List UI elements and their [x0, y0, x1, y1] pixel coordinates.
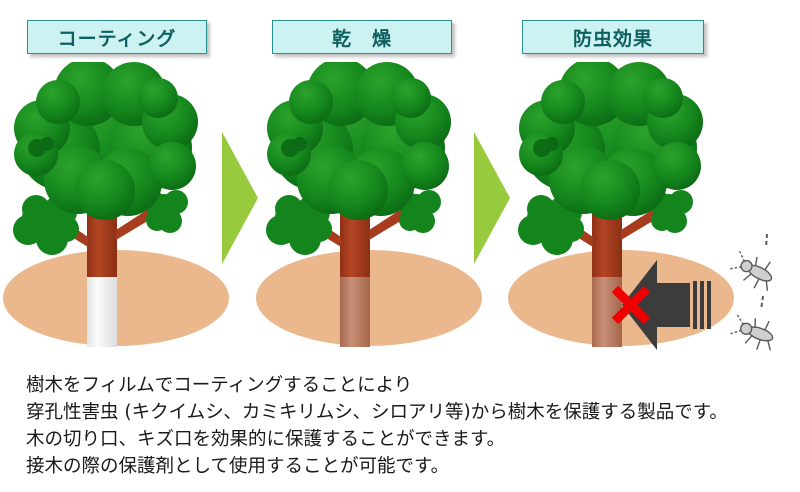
panel-label-text: 乾 燥 [332, 24, 392, 51]
panel-label-text: コーティング [58, 24, 177, 51]
diagram-canvas: コーティング 乾 燥 防虫効果 [0, 0, 800, 492]
coating-film-dry [340, 277, 370, 347]
coating-stage [0, 62, 250, 357]
panel-label-coating: コーティング [27, 20, 207, 54]
description-line-4: 接木の際の保護剤として使用することが可能です。 [26, 453, 776, 480]
panel-label-pest-protection: 防虫効果 [522, 20, 704, 54]
insect-path-dashes [761, 296, 763, 310]
description-line-2: 穿孔性害虫 (キクイムシ、カミキリムシ、シロアリ等)から樹木を保護する製品です。 [26, 399, 776, 426]
panel-label-drying: 乾 燥 [272, 20, 452, 54]
description-block: 樹木をフィルムでコーティングすることにより 穿孔性害虫 (キクイムシ、カミキリム… [26, 372, 776, 480]
coating-film-wet [87, 277, 117, 347]
description-line-3: 木の切り口、キズ口を効果的に保護することができます。 [26, 426, 776, 453]
panel-label-text: 防虫効果 [573, 24, 653, 51]
boring-insect-icon [728, 310, 779, 354]
pest-protection-stage [505, 62, 755, 357]
insect-path-dashes [766, 234, 767, 248]
description-line-1: 樹木をフィルムでコーティングすることにより [26, 372, 776, 399]
boring-insect-icon [727, 247, 780, 295]
